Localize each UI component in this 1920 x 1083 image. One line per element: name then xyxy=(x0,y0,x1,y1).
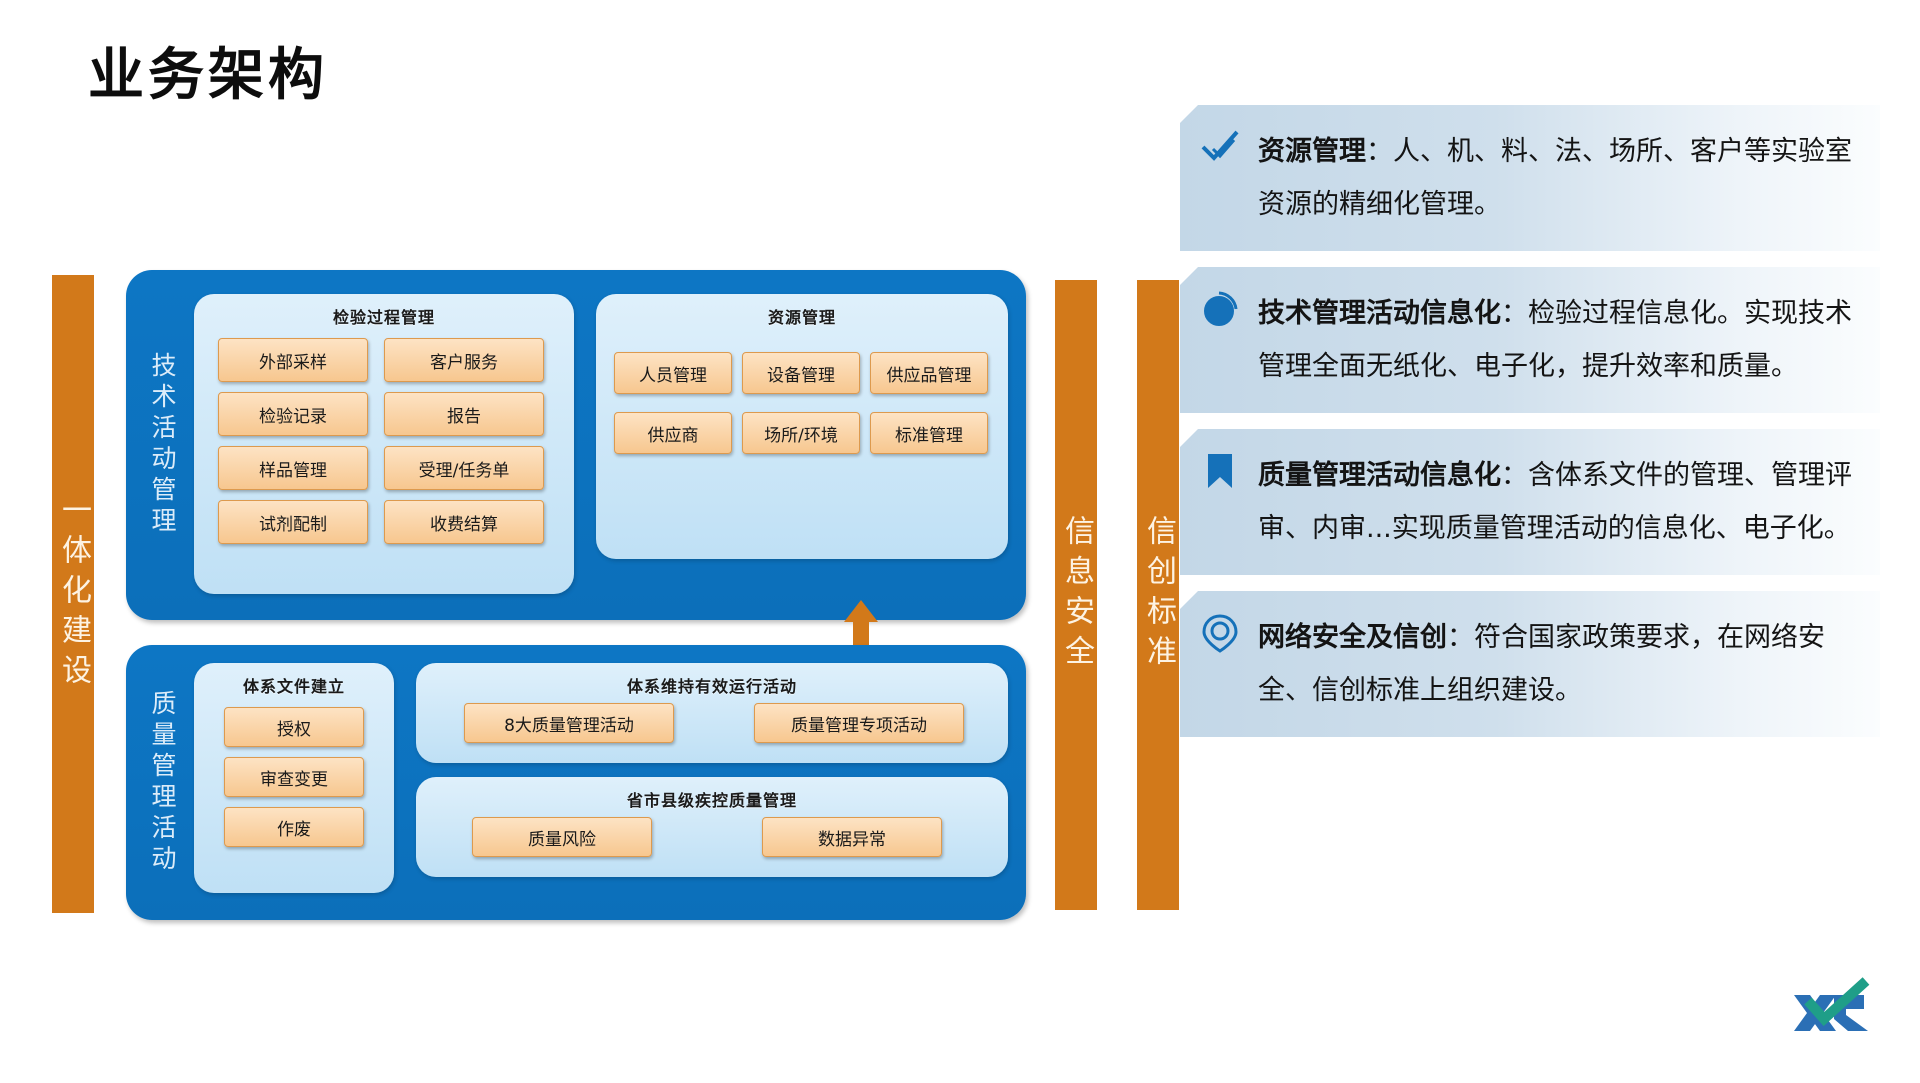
card-system-effective-operation: 体系维持有效运行活动 8大质量管理活动 质量管理专项活动 xyxy=(416,663,1008,763)
card-resource-management-title: 资源管理 xyxy=(596,294,1008,328)
group-technical-activity-label: 技术活动管理 xyxy=(144,352,180,538)
bullet-network-security-sep: ： xyxy=(1447,622,1474,653)
bullet-technical-management-lead: 技术管理活动信息化 xyxy=(1258,298,1501,329)
card-inspection-process-management-title: 检验过程管理 xyxy=(194,294,574,328)
card-cdc-quality-management-title: 省市县级疾控质量管理 xyxy=(416,777,1008,811)
card-system-effective-operation-title: 体系维持有效运行活动 xyxy=(416,663,1008,697)
vertical-bar-information-security-label: 信息安全 xyxy=(1054,515,1098,675)
chip-grid-effective-operation: 8大质量管理活动 质量管理专项活动 xyxy=(464,703,964,743)
chip-site-environment[interactable]: 场所/环境 xyxy=(742,412,860,454)
bullet-resource-management: 资源管理：人、机、料、法、场所、客户等实验室资源的精细化管理。 xyxy=(1180,105,1880,251)
chip-grid-system-document: 授权 审查变更 作废 xyxy=(224,707,364,847)
bullet-network-security-xinchuang: 网络安全及信创：符合国家政策要求，在网络安全、信创标准上组织建设。 xyxy=(1180,591,1880,737)
chip-authorization[interactable]: 授权 xyxy=(224,707,364,747)
chip-grid-inspection: 外部采样 客户服务 检验记录 报告 样品管理 受理/任务单 试剂配制 收费结算 xyxy=(218,338,550,544)
bullet-resource-management-sep: ： xyxy=(1366,136,1393,167)
xr-logo xyxy=(1790,975,1882,1047)
bullet-quality-management-informatization: 质量管理活动信息化：含体系文件的管理、管理评审、内审...实现质量管理活动的信息… xyxy=(1180,429,1880,575)
chip-inspection-record[interactable]: 检验记录 xyxy=(218,392,368,436)
bullet-network-security-text: 网络安全及信创：符合国家政策要求，在网络安全、信创标准上组织建设。 xyxy=(1258,611,1854,717)
group-quality-activity-label-wrap: 质量管理活动 xyxy=(140,645,184,920)
chip-supplies-management[interactable]: 供应品管理 xyxy=(870,352,988,394)
card-resource-management: 资源管理 人员管理 设备管理 供应品管理 供应商 场所/环境 标准管理 xyxy=(596,294,1008,559)
card-inspection-process-management: 检验过程管理 外部采样 客户服务 检验记录 报告 样品管理 受理/任务单 试剂配… xyxy=(194,294,574,594)
chip-personnel-management[interactable]: 人员管理 xyxy=(614,352,732,394)
chip-customer-service[interactable]: 客户服务 xyxy=(384,338,544,382)
circle-target-icon xyxy=(1200,289,1240,329)
left-vertical-bar-integrated-construction: 一体化建设 xyxy=(52,275,94,913)
group-technical-activity-label-wrap: 技术活动管理 xyxy=(140,270,184,620)
vertical-bar-xinchuang-standard: 信创标准 xyxy=(1137,280,1179,910)
business-architecture-diagram: 一体化建设 信息安全 信创标准 技术活动管理 检验过程管理 外部采样 客户服务 … xyxy=(52,270,1124,920)
chip-grid-cdc-quality: 质量风险 数据异常 xyxy=(472,817,962,857)
left-vertical-bar-label: 一体化建设 xyxy=(51,494,95,694)
feature-bullet-list: 资源管理：人、机、料、法、场所、客户等实验室资源的精细化管理。 技术管理活动信息… xyxy=(1180,105,1880,753)
group-quality-management-activity: 质量管理活动 体系文件建立 授权 审查变更 作废 体系维持有效运行活动 8大质量… xyxy=(126,645,1026,920)
chip-data-anomaly[interactable]: 数据异常 xyxy=(762,817,942,857)
bullet-quality-management-sep: ： xyxy=(1501,460,1528,491)
bookmark-icon xyxy=(1200,451,1240,491)
chip-quality-special-activities[interactable]: 质量管理专项活动 xyxy=(754,703,964,743)
group-technical-activity-management: 技术活动管理 检验过程管理 外部采样 客户服务 检验记录 报告 样品管理 受理/… xyxy=(126,270,1026,620)
check-icon xyxy=(1200,127,1240,167)
location-pin-icon xyxy=(1200,613,1240,653)
bullet-quality-management-text: 质量管理活动信息化：含体系文件的管理、管理评审、内审...实现质量管理活动的信息… xyxy=(1258,449,1854,555)
bullet-technical-management-sep: ： xyxy=(1501,298,1528,329)
chip-review-change[interactable]: 审查变更 xyxy=(224,757,364,797)
chip-standard-management[interactable]: 标准管理 xyxy=(870,412,988,454)
page-title: 业务架构 xyxy=(88,30,328,111)
chip-obsolete[interactable]: 作废 xyxy=(224,807,364,847)
chip-eight-quality-activities[interactable]: 8大质量管理活动 xyxy=(464,703,674,743)
chip-sample-management[interactable]: 样品管理 xyxy=(218,446,368,490)
vertical-bar-xinchuang-standard-label: 信创标准 xyxy=(1136,515,1180,675)
chip-quality-risk[interactable]: 质量风险 xyxy=(472,817,652,857)
bullet-resource-management-text: 资源管理：人、机、料、法、场所、客户等实验室资源的精细化管理。 xyxy=(1258,125,1854,231)
chip-grid-resource: 人员管理 设备管理 供应品管理 供应商 场所/环境 标准管理 xyxy=(614,352,990,454)
chip-supplier[interactable]: 供应商 xyxy=(614,412,732,454)
bullet-network-security-lead: 网络安全及信创 xyxy=(1258,622,1447,653)
chip-fee-settlement[interactable]: 收费结算 xyxy=(384,500,544,544)
bullet-resource-management-lead: 资源管理 xyxy=(1258,136,1366,167)
chip-external-sampling[interactable]: 外部采样 xyxy=(218,338,368,382)
card-system-document-title: 体系文件建立 xyxy=(194,663,394,697)
chip-report[interactable]: 报告 xyxy=(384,392,544,436)
chip-acceptance-task-order[interactable]: 受理/任务单 xyxy=(384,446,544,490)
card-cdc-quality-management: 省市县级疾控质量管理 质量风险 数据异常 xyxy=(416,777,1008,877)
chip-reagent-preparation[interactable]: 试剂配制 xyxy=(218,500,368,544)
group-quality-activity-label: 质量管理活动 xyxy=(144,690,180,876)
vertical-bar-information-security: 信息安全 xyxy=(1055,280,1097,910)
card-system-document-establishment: 体系文件建立 授权 审查变更 作废 xyxy=(194,663,394,893)
bullet-technical-management-text: 技术管理活动信息化：检验过程信息化。实现技术管理全面无纸化、电子化，提升效率和质… xyxy=(1258,287,1854,393)
bullet-technical-management-informatization: 技术管理活动信息化：检验过程信息化。实现技术管理全面无纸化、电子化，提升效率和质… xyxy=(1180,267,1880,413)
chip-equipment-management[interactable]: 设备管理 xyxy=(742,352,860,394)
bullet-quality-management-lead: 质量管理活动信息化 xyxy=(1258,460,1501,491)
